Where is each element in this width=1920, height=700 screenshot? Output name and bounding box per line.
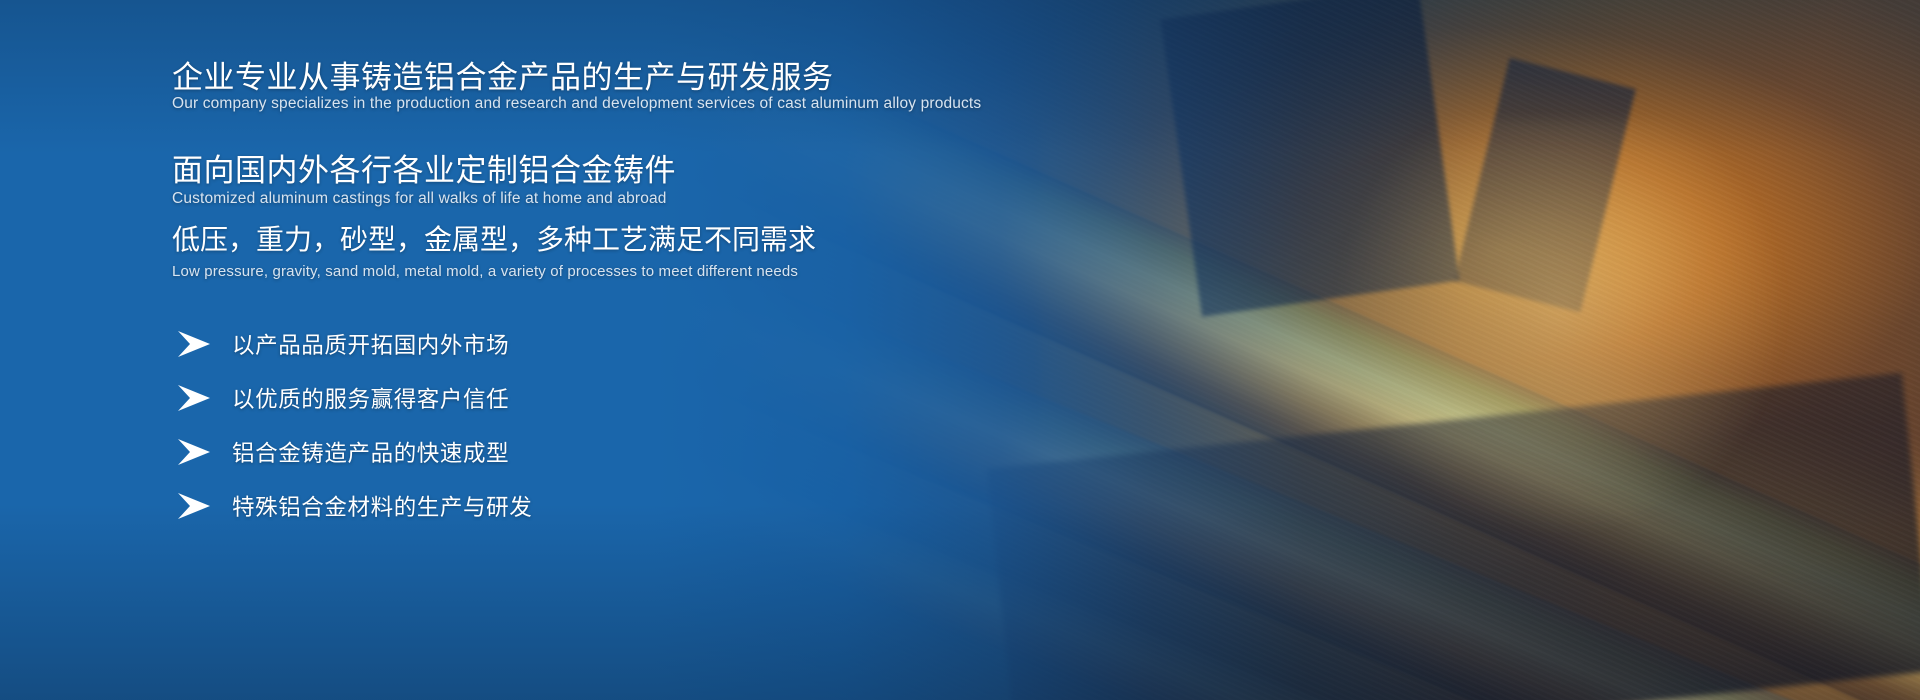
list-item: 特殊铝合金材料的生产与研发 bbox=[176, 480, 532, 532]
banner-content: 企业专业从事铸造铝合金产品的生产与研发服务 Our company specia… bbox=[172, 0, 1372, 700]
arrow-right-icon bbox=[176, 383, 218, 413]
list-item: 以优质的服务赢得客户信任 bbox=[176, 372, 532, 424]
headline-secondary-subtitle: Customized aluminum castings for all wal… bbox=[172, 190, 667, 208]
arrow-right-icon bbox=[176, 491, 218, 521]
headline-primary: 企业专业从事铸造铝合金产品的生产与研发服务 bbox=[172, 52, 834, 97]
headline-tertiary: 低压，重力，砂型，金属型，多种工艺满足不同需求 bbox=[172, 218, 816, 258]
headline-primary-subtitle: Our company specializes in the productio… bbox=[172, 95, 981, 113]
list-item: 以产品品质开拓国内外市场 bbox=[176, 318, 532, 370]
feature-list: 以产品品质开拓国内外市场 以优质的服务赢得客户信任 铝合金铸造产品的快速成型 特… bbox=[176, 318, 532, 534]
feature-label: 以优质的服务赢得客户信任 bbox=[232, 382, 509, 414]
feature-label: 以产品品质开拓国内外市场 bbox=[232, 328, 509, 360]
list-item: 铝合金铸造产品的快速成型 bbox=[176, 426, 532, 478]
arrow-right-icon bbox=[176, 329, 218, 359]
feature-label: 特殊铝合金材料的生产与研发 bbox=[232, 490, 532, 522]
feature-label: 铝合金铸造产品的快速成型 bbox=[232, 436, 509, 468]
headline-secondary: 面向国内外各行各业定制铝合金铸件 bbox=[172, 145, 676, 190]
arrow-right-icon bbox=[176, 437, 218, 467]
hero-banner: 企业专业从事铸造铝合金产品的生产与研发服务 Our company specia… bbox=[0, 0, 1920, 700]
headline-tertiary-subtitle: Low pressure, gravity, sand mold, metal … bbox=[172, 263, 798, 280]
